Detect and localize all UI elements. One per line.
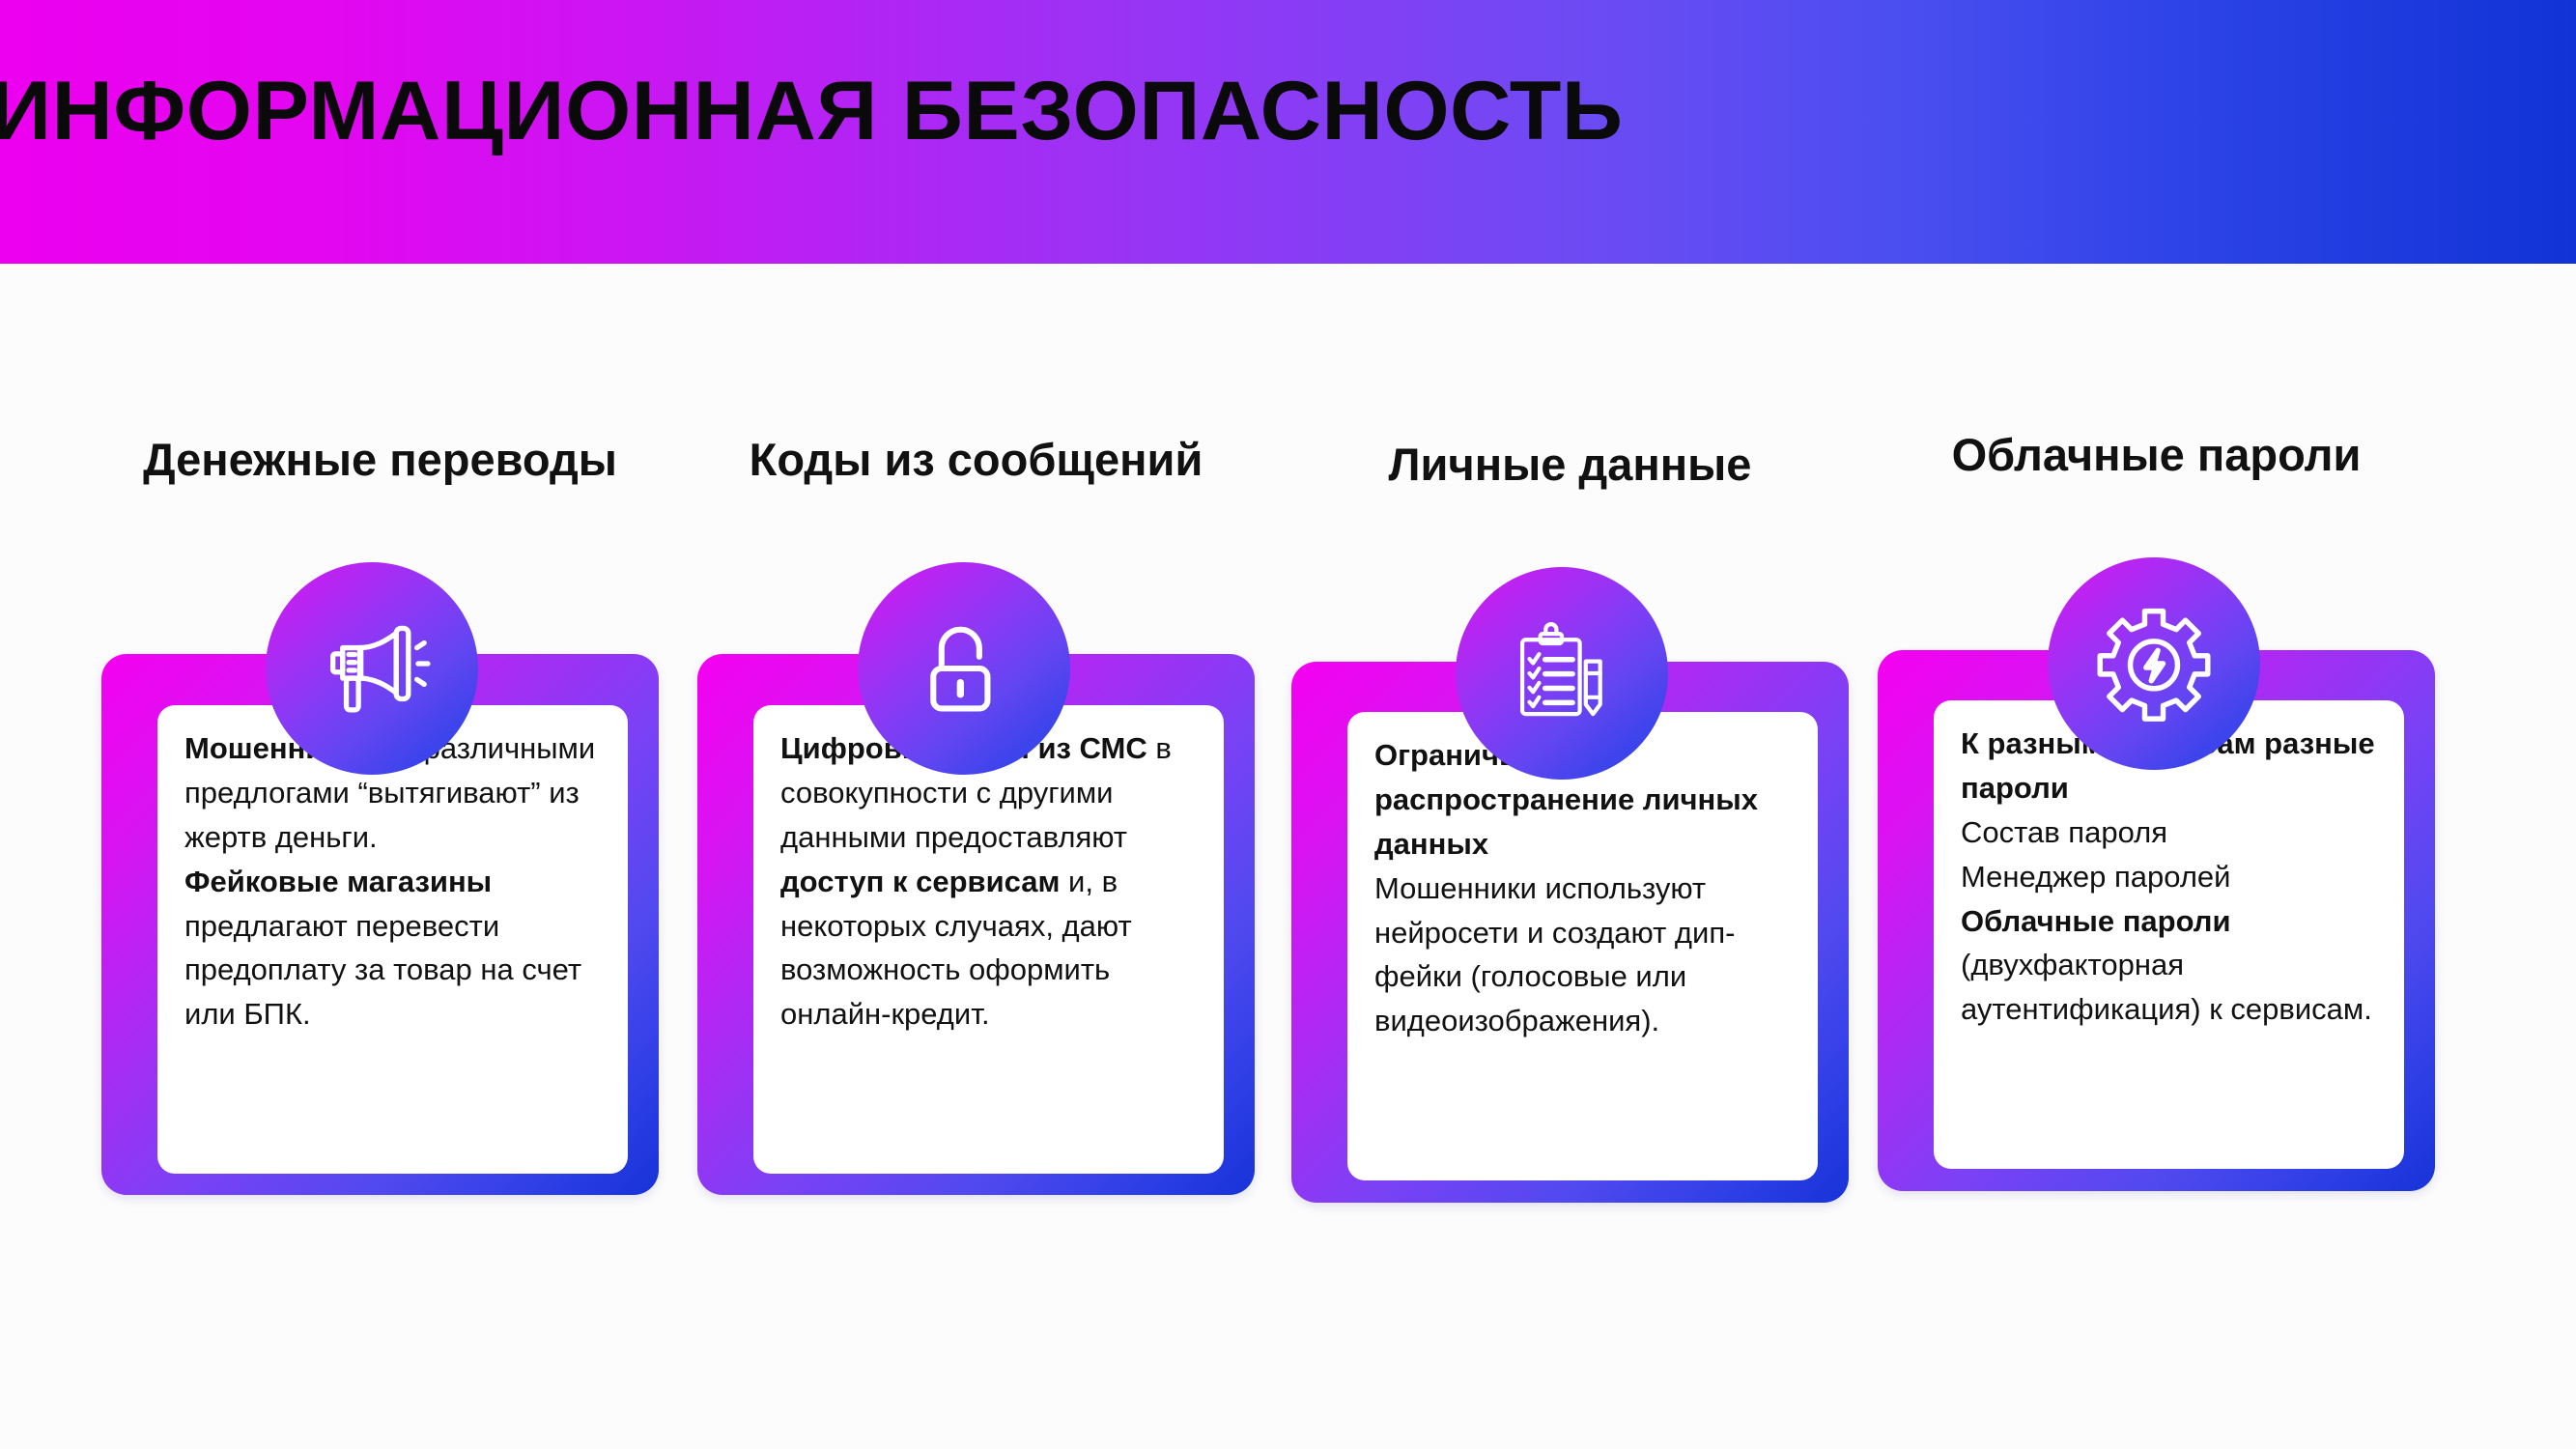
card-heading: Облачные пароли [1839, 428, 2474, 481]
megaphone-icon [266, 562, 478, 775]
card-panel: Мошенники под различными предлогами “выт… [157, 705, 628, 1174]
card-heading: Личные данные [1253, 438, 1887, 491]
card-cloud-passwords[interactable]: Облачные пароли К разным сервисам разные… [1878, 264, 2435, 1449]
card-body-text: Цифровые коды из СМС в совокупности с др… [780, 726, 1196, 1037]
card-heading: Коды из сообщений [659, 433, 1293, 486]
card-panel: Цифровые коды из СМС в совокупности с др… [753, 705, 1224, 1174]
card-money-transfers[interactable]: Денежные переводы [101, 264, 659, 1449]
gear-lightning-icon [2048, 557, 2260, 770]
card-body-text: Ограничьте распространение личных данных… [1374, 733, 1790, 1043]
header-band: ИНФОРМАЦИОННАЯ БЕЗОПАСНОСТЬ [0, 0, 2576, 264]
card-sms-codes[interactable]: Коды из сообщений Цифровые коды из СМС в… [697, 264, 1255, 1449]
card-body-text: Мошенники под различными предлогами “выт… [184, 726, 600, 1037]
cards-row: Денежные переводы [0, 264, 2576, 1449]
card-personal-data[interactable]: Личные данные [1291, 264, 1849, 1449]
card-panel: Ограничьте распространение личных данных… [1347, 712, 1818, 1180]
card-panel: К разным сервисам разные паролиСостав па… [1934, 700, 2404, 1169]
page-title: ИНФОРМАЦИОННАЯ БЕЗОПАСНОСТЬ [0, 70, 1623, 153]
card-heading: Денежные переводы [63, 433, 697, 486]
clipboard-checklist-pencil-icon [1456, 567, 1668, 780]
unlocked-padlock-icon [858, 562, 1070, 775]
